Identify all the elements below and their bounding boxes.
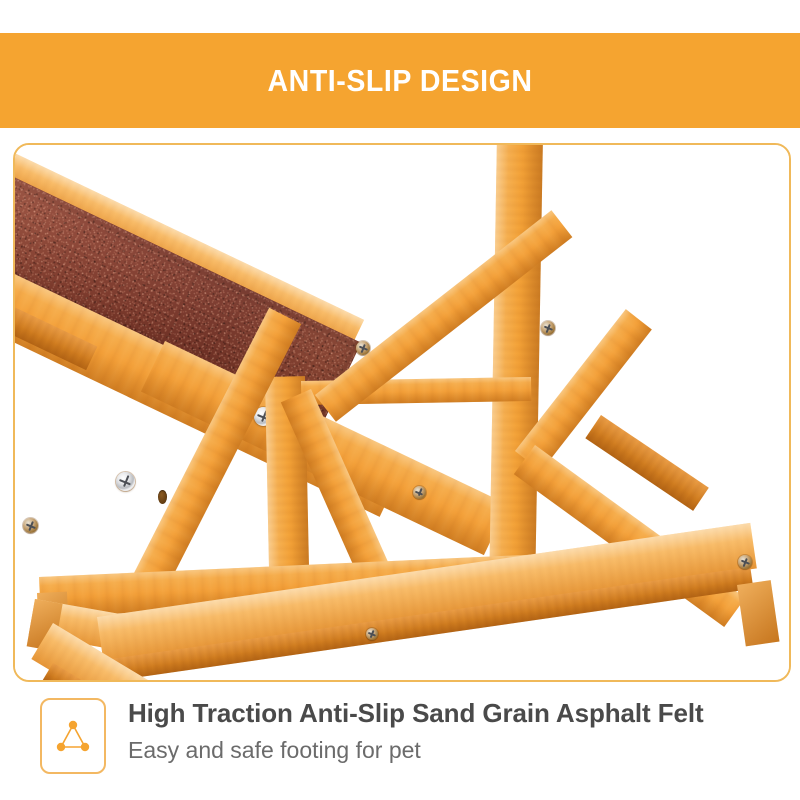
traction-triangle-icon [53,716,93,756]
marketing-image-page: ANTI-SLIP DESIGN [0,0,800,800]
header-banner: ANTI-SLIP DESIGN [0,33,800,128]
feature-icon-box [40,698,106,774]
page-title: ANTI-SLIP DESIGN [267,63,532,99]
screw-center-brace-1 [413,486,426,499]
product-photo [15,145,789,680]
screw-ramp-rail-1 [116,472,135,491]
screw-base-right-1 [738,555,752,569]
feature-callout: High Traction Anti-Slip Sand Grain Aspha… [40,698,780,774]
feature-text-block: High Traction Anti-Slip Sand Grain Aspha… [128,698,704,765]
feature-title: High Traction Anti-Slip Sand Grain Aspha… [128,699,704,728]
screw-mid-stringer-1 [366,628,378,640]
screw-post-right-1 [541,321,555,335]
base-rail-right-cut-end [737,580,779,646]
product-photo-frame [13,143,791,682]
vertical-post-right [489,143,543,606]
feature-subtitle: Easy and safe footing for pet [128,737,704,765]
screw-ramp-rail-3 [23,518,38,533]
drill-hole-left-brace [158,490,167,504]
